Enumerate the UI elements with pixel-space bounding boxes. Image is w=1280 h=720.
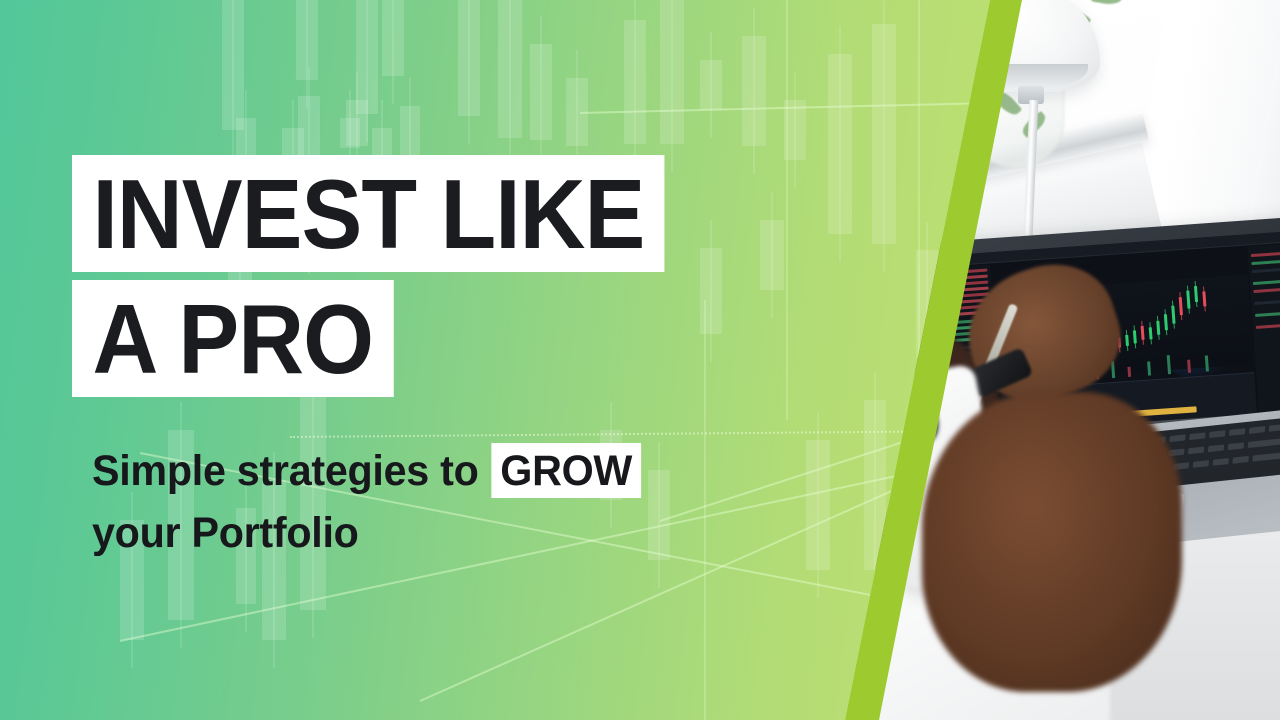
subheadline-prefix: Simple strategies to — [92, 447, 490, 495]
bg-grid-line — [786, 0, 788, 420]
bg-candlestick — [660, 0, 684, 144]
bg-candlestick — [356, 0, 378, 114]
person-hand-holding-phone — [922, 392, 1182, 692]
headline: INVEST LIKE A PRO — [72, 155, 709, 397]
bg-candlestick — [742, 36, 766, 146]
bg-candlestick — [222, 0, 244, 130]
bg-candlestick — [624, 20, 646, 144]
headline-line-2: A PRO — [72, 280, 394, 397]
bg-candlestick — [806, 440, 830, 570]
bg-candlestick — [296, 0, 318, 80]
bg-candlestick — [372, 128, 392, 156]
bg-candlestick — [760, 220, 784, 290]
subheadline-highlight: GROW — [492, 443, 641, 498]
invest-like-a-pro-banner: INVEST LIKE A PRO Simple strategies to G… — [0, 0, 1280, 720]
bg-candlestick — [458, 0, 480, 116]
subheadline-suffix: your Portfolio — [92, 509, 359, 557]
bg-candlestick — [828, 54, 852, 234]
bg-candlestick — [700, 60, 722, 110]
bg-candlestick — [346, 100, 368, 146]
headline-line-1: INVEST LIKE — [72, 155, 665, 272]
bg-candlestick — [498, 0, 522, 138]
bg-candlestick — [382, 0, 404, 76]
subheadline: Simple strategies to GROW your Portfolio — [92, 440, 764, 564]
bg-candlestick — [530, 44, 552, 140]
bg-candlestick — [872, 24, 896, 244]
